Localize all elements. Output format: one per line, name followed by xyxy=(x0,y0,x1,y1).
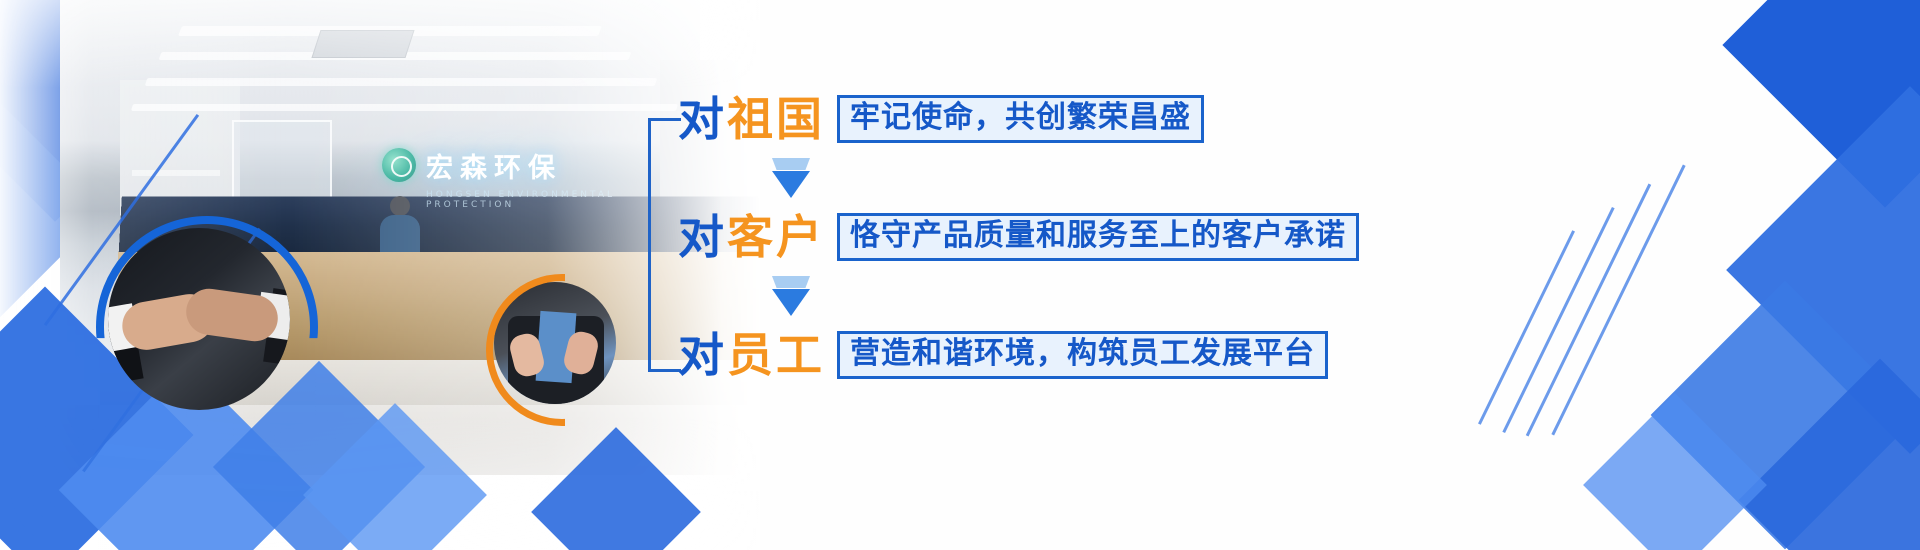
row-prefix: 对 xyxy=(678,214,725,260)
row-prefix: 对 xyxy=(678,96,725,142)
row-title-customer: 对 客户 xyxy=(678,214,825,260)
company-culture-banner: 宏森环保 HONGSEN ENVIRONMENTAL PROTECTION xyxy=(0,0,1920,550)
triangle-bottom-part xyxy=(772,171,810,198)
row-phrase-customer: 恪守产品质量和服务至上的客户承诺 xyxy=(837,213,1359,261)
bracket-connector xyxy=(648,118,681,372)
triangle-top-part xyxy=(772,158,810,170)
row-title-country: 对 祖国 xyxy=(678,96,825,142)
decor-line-right-2 xyxy=(1526,184,1651,437)
statement-row-employee: 对 员工 营造和谐环境，构筑员工发展平台 xyxy=(678,324,1408,386)
decor-line-right-1 xyxy=(1551,165,1685,436)
statement-rows: 对 祖国 牢记使命，共创繁荣昌盛 对 客户 恪守产品质量和服务至上的客户承诺 xyxy=(678,88,1408,386)
triangle-bottom-part xyxy=(772,289,810,316)
statement-row-country: 对 祖国 牢记使命，共创繁荣昌盛 xyxy=(678,88,1408,150)
triangle-down-icon xyxy=(770,158,812,198)
arrow-row-2 xyxy=(678,268,1408,324)
row-phrase-employee: 营造和谐环境，构筑员工发展平台 xyxy=(837,331,1328,379)
triangle-down-icon xyxy=(770,276,812,316)
row-prefix: 对 xyxy=(678,332,725,378)
culture-statement-block: 对 祖国 牢记使命，共创繁荣昌盛 对 客户 恪守产品质量和服务至上的客户承诺 xyxy=(648,88,1408,388)
row-subject: 祖国 xyxy=(727,96,825,142)
triangle-top-part xyxy=(772,276,810,288)
decor-line-right-4 xyxy=(1478,230,1575,425)
statement-row-customer: 对 客户 恪守产品质量和服务至上的客户承诺 xyxy=(678,206,1408,268)
row-phrase-country: 牢记使命，共创繁荣昌盛 xyxy=(837,95,1204,143)
row-title-employee: 对 员工 xyxy=(678,332,825,378)
row-subject: 员工 xyxy=(727,332,825,378)
decor-line-right-3 xyxy=(1502,207,1614,433)
row-subject: 客户 xyxy=(727,214,825,260)
arrow-row-1 xyxy=(678,150,1408,206)
